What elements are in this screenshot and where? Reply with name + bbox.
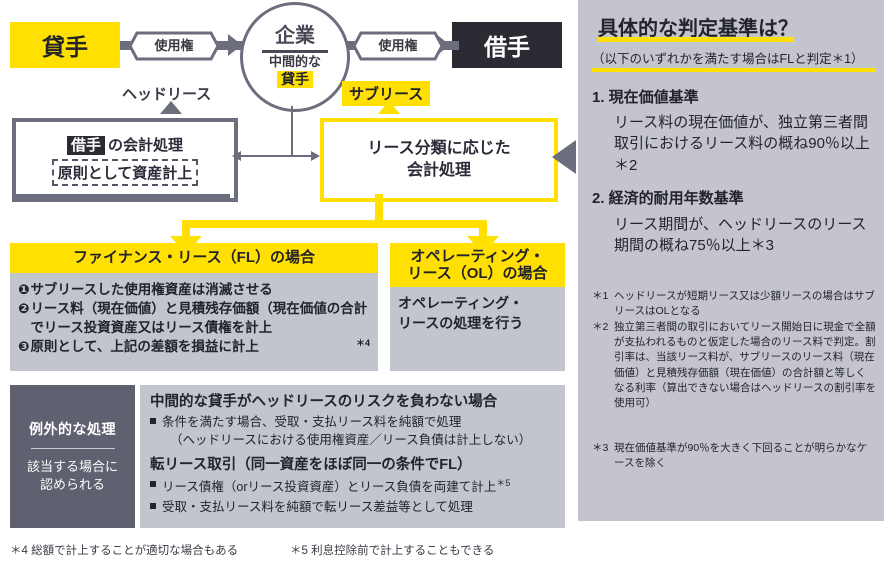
intermediate-label: 中間的な <box>269 55 321 70</box>
footnote-marker: ＊3 <box>592 441 608 456</box>
headlease-up-arrow-icon <box>160 101 182 114</box>
bidirectional-arrow-icon <box>232 150 320 162</box>
footnote-text: 現在価値基準が90％を大きく下回ることが明らかなケースを除く <box>592 441 876 471</box>
criteria-panel: 具体的な判定基準は？ （以下のいずれかを満たす場合はFLと判定＊1） 1. 現在… <box>578 0 884 521</box>
exception-group-1-subnote: （ヘッドリースにおける使用権資産／リース負債は計上しない） <box>150 432 557 450</box>
subtitle-underline <box>592 68 876 72</box>
panel-footnote-2: ＊2 独立第三者間の取引においてリース開始日に現金で全額が支払われるものと仮定し… <box>592 320 876 411</box>
square-bullet-icon <box>150 418 156 424</box>
item-number: ❷ <box>18 299 29 318</box>
finance-lease-header: ファイナンス・リース（FL）の場合 <box>10 243 378 273</box>
exception-divider <box>31 448 115 449</box>
panel-footnote-3: ＊3 現在価値基準が90％を大きく下回ることが明らかなケースを除く <box>592 441 876 471</box>
lessee-box: 借手 <box>452 22 562 68</box>
right-of-use-hex-1: 使用権 <box>128 31 220 61</box>
operating-lease-body: オペレーティング・ リースの処理を行う <box>390 287 565 371</box>
list-item: 受取・支払リース料を純額で転リース差益等として処理 <box>150 499 557 517</box>
intermediate-lessor-circle: 企業 中間的な 貸手 <box>240 2 350 112</box>
item-text: サブリースした使用権資産は消滅させる <box>30 280 370 299</box>
operating-lease-header-line-2: リース（OL）の場合 <box>407 265 547 282</box>
item-note: ＊4 <box>356 337 370 350</box>
item-text: 原則として、上記の差額を損益に計上 <box>30 337 356 356</box>
title-underline <box>598 37 794 42</box>
exception-subtitle-line-1: 該当する場合に <box>27 458 118 476</box>
right-of-use-label: 使用権 <box>128 31 220 61</box>
bottom-footnote-4: ＊4 総額で計上することが適切な場合もある <box>10 542 238 558</box>
criterion-1-body: リース料の現在価値が、独立第三者間取引におけるリース料の概ね90％以上＊2 <box>614 112 876 176</box>
lessee-accounting-box: 借手の会計処理 原則として資産計上 <box>12 118 238 202</box>
list-item: ❸ 原則として、上記の差額を損益に計上 ＊4 <box>18 337 370 356</box>
footnote-text: ヘッドリースが短期リース又は少額リースの場合はサブリースはOLとなる <box>592 289 876 319</box>
classification-line-1: リース分類に応じた <box>367 138 510 160</box>
item-note: ＊5 <box>496 478 510 488</box>
item-text: 条件を満たす場合、受取・支払リース料を純額で処理 <box>162 415 461 429</box>
operating-lease-header-line-1: オペレーティング・ <box>407 248 547 265</box>
item-text: 受取・支払リース料を純額で転リース差益等として処理 <box>162 500 473 514</box>
criteria-panel-subtitle: （以下のいずれかを満たす場合はFLと判定＊1） <box>592 48 864 67</box>
circle-divider <box>262 50 328 53</box>
exception-block: 例外的な処理 該当する場合に 認められる 中間的な貸手がヘッドリースのリスクを負… <box>10 385 565 528</box>
panel-pointer-icon <box>552 140 576 174</box>
criterion-1-heading: 1. 現在価値基準 <box>592 86 699 107</box>
finance-lease-box: ファイナンス・リース（FL）の場合 ❶ サブリースした使用権資産は消滅させる ❷… <box>10 243 378 371</box>
operating-lease-header: オペレーティング・ リース（OL）の場合 <box>390 243 565 287</box>
operating-lease-text-line-2: リースの処理を行う <box>398 314 557 334</box>
bottom-footnote-5: ＊5 利息控除前で計上することもできる <box>290 542 494 558</box>
item-text: リース料（現在価値）と見積残存価額（現在価値の合計でリース投資資産又はリース債権… <box>30 299 370 337</box>
exception-group-1-heading: 中間的な貸手がヘッドリースのリスクを負わない場合 <box>150 393 557 412</box>
item-text: リース債権（orリース投資資産）とリース負債を両建て計上 <box>162 480 496 494</box>
exception-subtitle-line-2: 認められる <box>27 476 118 494</box>
list-item: リース債権（orリース投資資産）とリース負債を両建て計上＊5 <box>150 477 557 497</box>
lessee-accounting-title: 借手の会計処理 <box>67 134 183 155</box>
sublease-up-arrow-icon <box>378 101 400 114</box>
diagram-root: 具体的な判定基準は？ （以下のいずれかを満たす場合はFLと判定＊1） 1. 現在… <box>0 0 884 571</box>
classification-accounting-box: リース分類に応じた 会計処理 <box>320 118 558 202</box>
panel-footnote-1: ＊1 ヘッドリースが短期リース又は少額リースの場合はサブリースはOLとなる <box>592 289 876 319</box>
lessee-accounting-rule: 原則として資産計上 <box>52 159 199 186</box>
criterion-2-heading: 2. 経済的耐用年数基準 <box>592 187 744 208</box>
finance-lease-body: ❶ サブリースした使用権資産は消滅させる ❷ リース料（現在価値）と見積残存価額… <box>10 273 378 371</box>
exception-label-panel: 例外的な処理 該当する場合に 認められる <box>10 385 135 528</box>
operating-lease-box: オペレーティング・ リース（OL）の場合 オペレーティング・ リースの処理を行う <box>390 243 565 371</box>
intermediate-lessor-badge: 貸手 <box>277 71 313 89</box>
square-bullet-icon <box>150 481 156 487</box>
exception-title: 例外的な処理 <box>29 419 116 439</box>
classification-line-2: 会計処理 <box>367 160 510 182</box>
exception-content-panel: 中間的な貸手がヘッドリースのリスクを負わない場合 条件を満たす場合、受取・支払リ… <box>140 385 565 528</box>
exception-group-2-heading: 転リース取引（同一資産をほぼ同一の条件でFL） <box>150 456 557 475</box>
footnote-text: 独立第三者間の取引においてリース開始日に現金で全額が支払われるものと仮定した場合… <box>592 320 876 411</box>
item-number: ❸ <box>18 337 29 356</box>
footnote-marker: ＊2 <box>592 320 608 335</box>
list-item: ❶ サブリースした使用権資産は消滅させる <box>18 280 370 299</box>
lessee-accounting-text: の会計処理 <box>108 137 183 154</box>
company-label: 企業 <box>275 26 315 47</box>
right-of-use-label: 使用権 <box>352 31 444 61</box>
list-item: ❷ リース料（現在価値）と見積残存価額（現在価値の合計でリース投資資産又はリース… <box>18 299 370 337</box>
lessor-box: 貸手 <box>10 22 120 68</box>
circle-down-connector <box>291 106 293 156</box>
right-of-use-hex-2: 使用権 <box>352 31 444 61</box>
lessee-badge: 借手 <box>67 136 105 155</box>
square-bullet-icon <box>150 503 156 509</box>
list-item: 条件を満たす場合、受取・支払リース料を純額で処理 <box>150 414 557 432</box>
exception-subtitle: 該当する場合に 認められる <box>27 458 118 494</box>
item-number: ❶ <box>18 280 29 299</box>
operating-lease-text-line-1: オペレーティング・ <box>398 294 557 314</box>
footnote-marker: ＊1 <box>592 289 608 304</box>
criterion-2-body: リース期間が、ヘッドリースのリース期間の概ね75％以上＊3 <box>614 214 876 257</box>
